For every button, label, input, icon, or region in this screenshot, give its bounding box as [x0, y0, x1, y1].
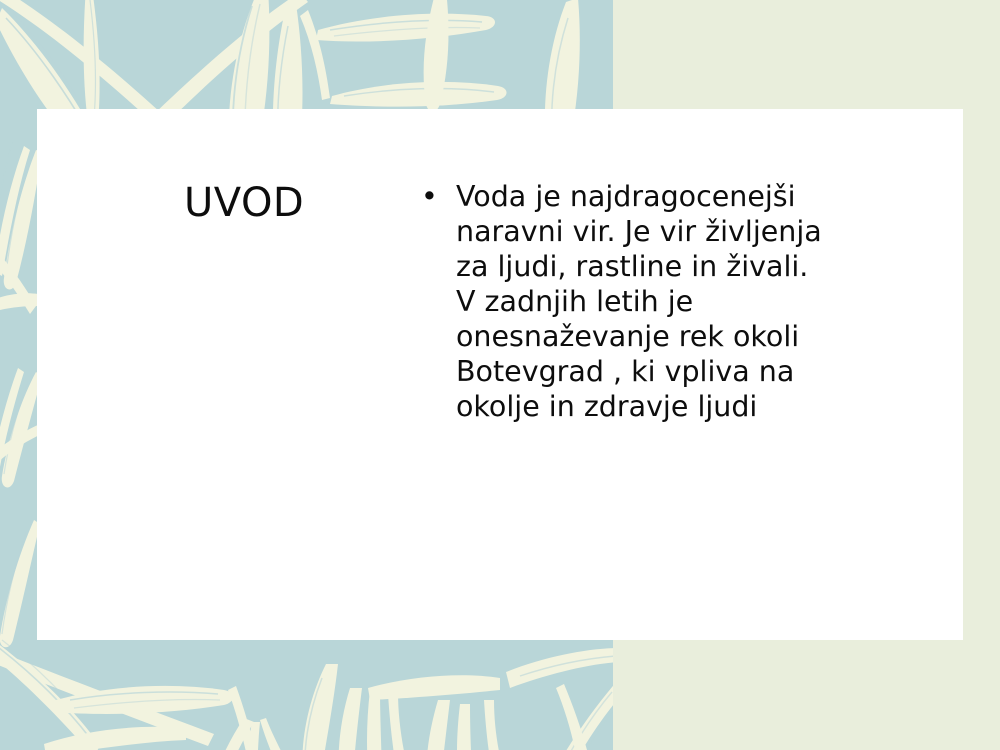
bullet-list: • Voda je najdragocenejši naravni vir. J… — [420, 179, 853, 424]
page-title: UVOD — [37, 181, 420, 225]
presentation-slide: UVOD • Voda je najdragocenejši naravni v… — [0, 0, 1000, 750]
body-column: • Voda je najdragocenejši naravni vir. J… — [420, 109, 963, 424]
list-item-text: Voda je najdragocenejši naravni vir. Je … — [456, 180, 822, 423]
title-column: UVOD — [37, 109, 420, 225]
list-item: • Voda je najdragocenejši naravni vir. J… — [420, 179, 836, 424]
content-card: UVOD • Voda je najdragocenejši naravni v… — [37, 109, 963, 640]
bullet-marker-icon: • — [421, 179, 438, 214]
